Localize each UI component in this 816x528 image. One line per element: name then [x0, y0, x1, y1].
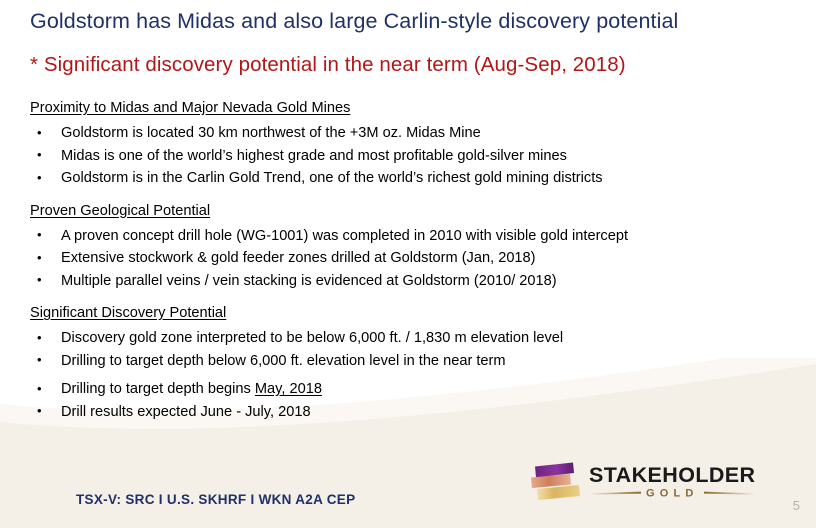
ticker-symbols: TSX-V: SRC I U.S. SKHRF I WKN A2A CEP: [76, 492, 355, 507]
slide-title: Goldstorm has Midas and also large Carli…: [30, 8, 790, 34]
section-proximity: Proximity to Midas and Major Nevada Gold…: [30, 99, 800, 190]
section-spacer: [30, 292, 800, 304]
presentation-slide: Goldstorm has Midas and also large Carli…: [0, 0, 816, 528]
section-significant-discovery: Significant Discovery Potential Discover…: [30, 304, 800, 423]
section-header: Proven Geological Potential: [30, 202, 800, 221]
list-item: Discovery gold zone interpreted to be be…: [30, 327, 800, 350]
list-item: Goldstorm is in the Carlin Gold Trend, o…: [30, 167, 800, 190]
page-number: 5: [793, 498, 800, 513]
logo-wordmark: STAKEHOLDER: [589, 463, 756, 487]
list-item-text: Drilling to target depth begins: [61, 381, 255, 397]
list-item: Goldstorm is located 30 km northwest of …: [30, 122, 800, 145]
bullet-list: Discovery gold zone interpreted to be be…: [30, 327, 800, 423]
list-item: Drilling to target depth begins May, 201…: [30, 378, 800, 401]
list-item: Midas is one of the world’s highest grad…: [30, 145, 800, 168]
section-spacer: [30, 190, 800, 202]
section-header: Significant Discovery Potential: [30, 304, 800, 323]
section-proven-geological: Proven Geological Potential A proven con…: [30, 202, 800, 293]
list-item: A proven concept drill hole (WG-1001) wa…: [30, 225, 800, 248]
list-item: Multiple parallel veins / vein stacking …: [30, 270, 800, 293]
logo-subword: GOLD: [646, 488, 699, 500]
list-item: Drilling to target depth below 6,000 ft.…: [30, 350, 800, 373]
list-item: Extensive stockwork & gold feeder zones …: [30, 247, 800, 270]
list-item-emphasis: May, 2018: [255, 381, 322, 397]
section-header: Proximity to Midas and Major Nevada Gold…: [30, 99, 800, 118]
slide-subtitle: * Significant discovery potential in the…: [30, 52, 790, 78]
list-item: Drill results expected June - July, 2018: [30, 401, 800, 424]
bullet-list: A proven concept drill hole (WG-1001) wa…: [30, 225, 800, 293]
bullet-list: Goldstorm is located 30 km northwest of …: [30, 122, 800, 190]
stakeholder-gold-logo: STAKEHOLDER GOLD: [529, 460, 761, 506]
slide-body: Proximity to Midas and Major Nevada Gold…: [30, 99, 800, 423]
logo-bars-icon: [531, 463, 580, 501]
